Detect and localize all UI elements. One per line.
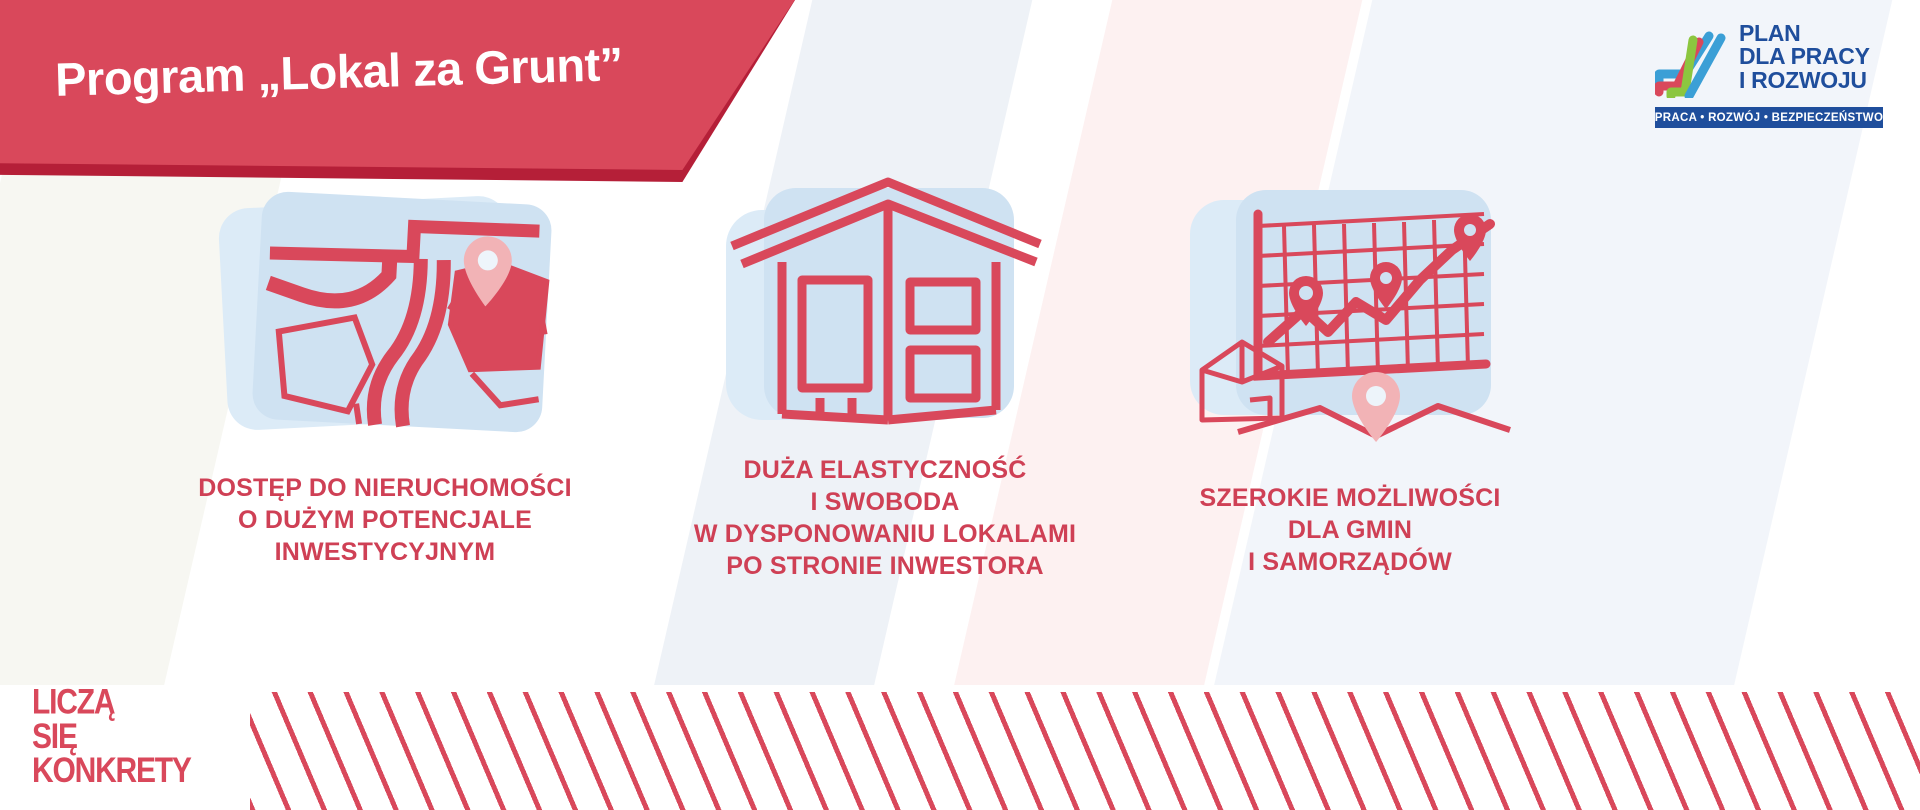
footer-diagonal-stripes: [250, 692, 1920, 810]
plan-arrows-icon: [1655, 26, 1735, 98]
feature-column-1: DOSTĘP DO NIERUCHOMOŚCI O DUŻYM POTENCJA…: [150, 170, 620, 568]
brand-tagline: PRACA • ROZWÓJ • BEZPIECZEŃSTWO: [1655, 107, 1883, 128]
feature-label-1: DOSTĘP DO NIERUCHOMOŚCI O DUŻYM POTENCJA…: [150, 472, 620, 568]
slogan-line-1: LICZĄ: [32, 686, 191, 720]
brand-logo-text: PLAN DLA PRACY I ROZWOJU: [1739, 22, 1889, 92]
map-location-icon: [150, 170, 620, 460]
feature-label-3: SZEROKIE MOŻLIWOŚCI DLA GMIN I SAMORZĄDÓ…: [1130, 482, 1570, 578]
feature-label-2: DUŻA ELASTYCZNOŚĆ I SWOBODA W DYSPONOWAN…: [665, 454, 1105, 582]
licza-sie-konkrety-logo: LICZĄ SIĘ KONKRETY: [32, 686, 191, 788]
building-icon: [665, 170, 1105, 460]
feature-column-2: DUŻA ELASTYCZNOŚĆ I SWOBODA W DYSPONOWAN…: [665, 170, 1105, 582]
brand-logo: PLAN DLA PRACY I ROZWOJU PRACA • ROZWÓJ …: [1655, 22, 1885, 130]
brand-line-2: DLA PRACY: [1739, 45, 1889, 68]
brand-line-1: PLAN: [1739, 22, 1889, 45]
map-pin-4-large: [1352, 372, 1400, 442]
slogan-line-2: SIĘ: [32, 720, 191, 754]
feature-columns: DOSTĘP DO NIERUCHOMOŚCI O DUŻYM POTENCJA…: [0, 170, 1920, 610]
feature-column-3: SZEROKIE MOŻLIWOŚCI DLA GMIN I SAMORZĄDÓ…: [1130, 170, 1570, 578]
growth-chart-map-icon: [1130, 170, 1570, 460]
brand-line-3: I ROZWOJU: [1739, 69, 1889, 92]
infographic-canvas: Program „Lokal za Grunt” PLAN DLA PRACY …: [0, 0, 1920, 810]
footer-strip: LICZĄ SIĘ KONKRETY: [0, 685, 1920, 810]
slogan-line-3: KONKRETY: [32, 754, 191, 788]
